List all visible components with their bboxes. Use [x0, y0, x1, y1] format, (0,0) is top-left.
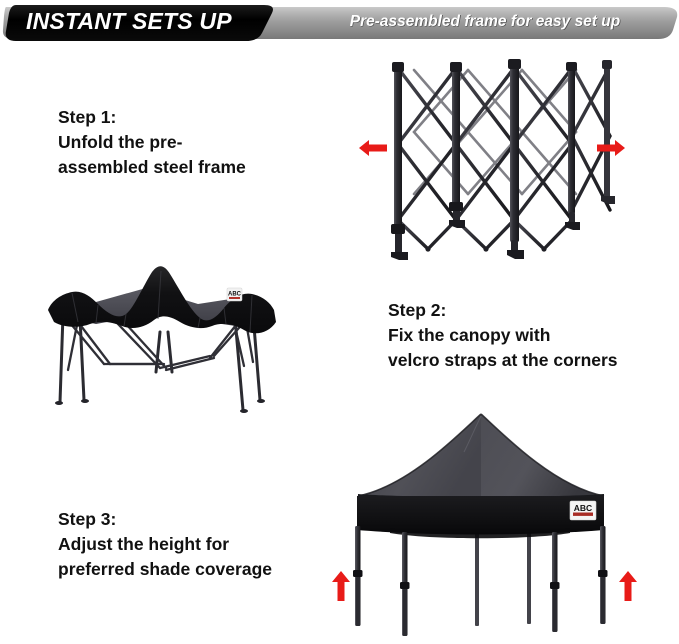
canopy-draped-on-frame-illustration: ABC	[38, 252, 338, 430]
frame-scissor-braces	[398, 66, 610, 249]
brand-logo-patch-loose: ABC	[227, 288, 242, 301]
assembled-canopy-tent-illustration: ABC	[330, 400, 660, 636]
loose-canopy-graphic: ABC	[38, 252, 338, 430]
arrow-left-frame	[358, 137, 388, 159]
arrow-up-right	[617, 570, 639, 602]
canopy-roof-left-face	[358, 414, 481, 496]
svg-text:ABC: ABC	[574, 503, 592, 513]
svg-text:ABC: ABC	[228, 292, 242, 298]
banner-title: INSTANT SETS UP	[26, 6, 256, 36]
header-banner: INSTANT SETS UP Pre-assembled frame for …	[0, 0, 679, 44]
step-2-caption: Step 2: Fix the canopy with velcro strap…	[388, 298, 618, 373]
arrow-up-left	[330, 570, 352, 602]
canopy-roof-right-face	[481, 414, 604, 496]
final-canopy-graphic: ABC	[330, 400, 660, 636]
step-1-caption: Step 1: Unfold the pre- assembled steel …	[58, 105, 246, 180]
arrow-right-frame	[596, 137, 626, 159]
up-arrow-icon-left	[330, 570, 352, 602]
right-arrow-icon	[596, 137, 626, 159]
banner-subtitle: Pre-assembled frame for easy set up	[300, 10, 670, 34]
brand-logo-patch-final: ABC	[570, 501, 596, 520]
up-arrow-icon-right	[617, 570, 639, 602]
left-arrow-icon	[358, 137, 388, 159]
step-3-caption: Step 3: Adjust the height for preferred …	[58, 507, 272, 582]
canopy-front-legs	[353, 526, 608, 636]
loose-canopy-feet	[55, 399, 265, 413]
